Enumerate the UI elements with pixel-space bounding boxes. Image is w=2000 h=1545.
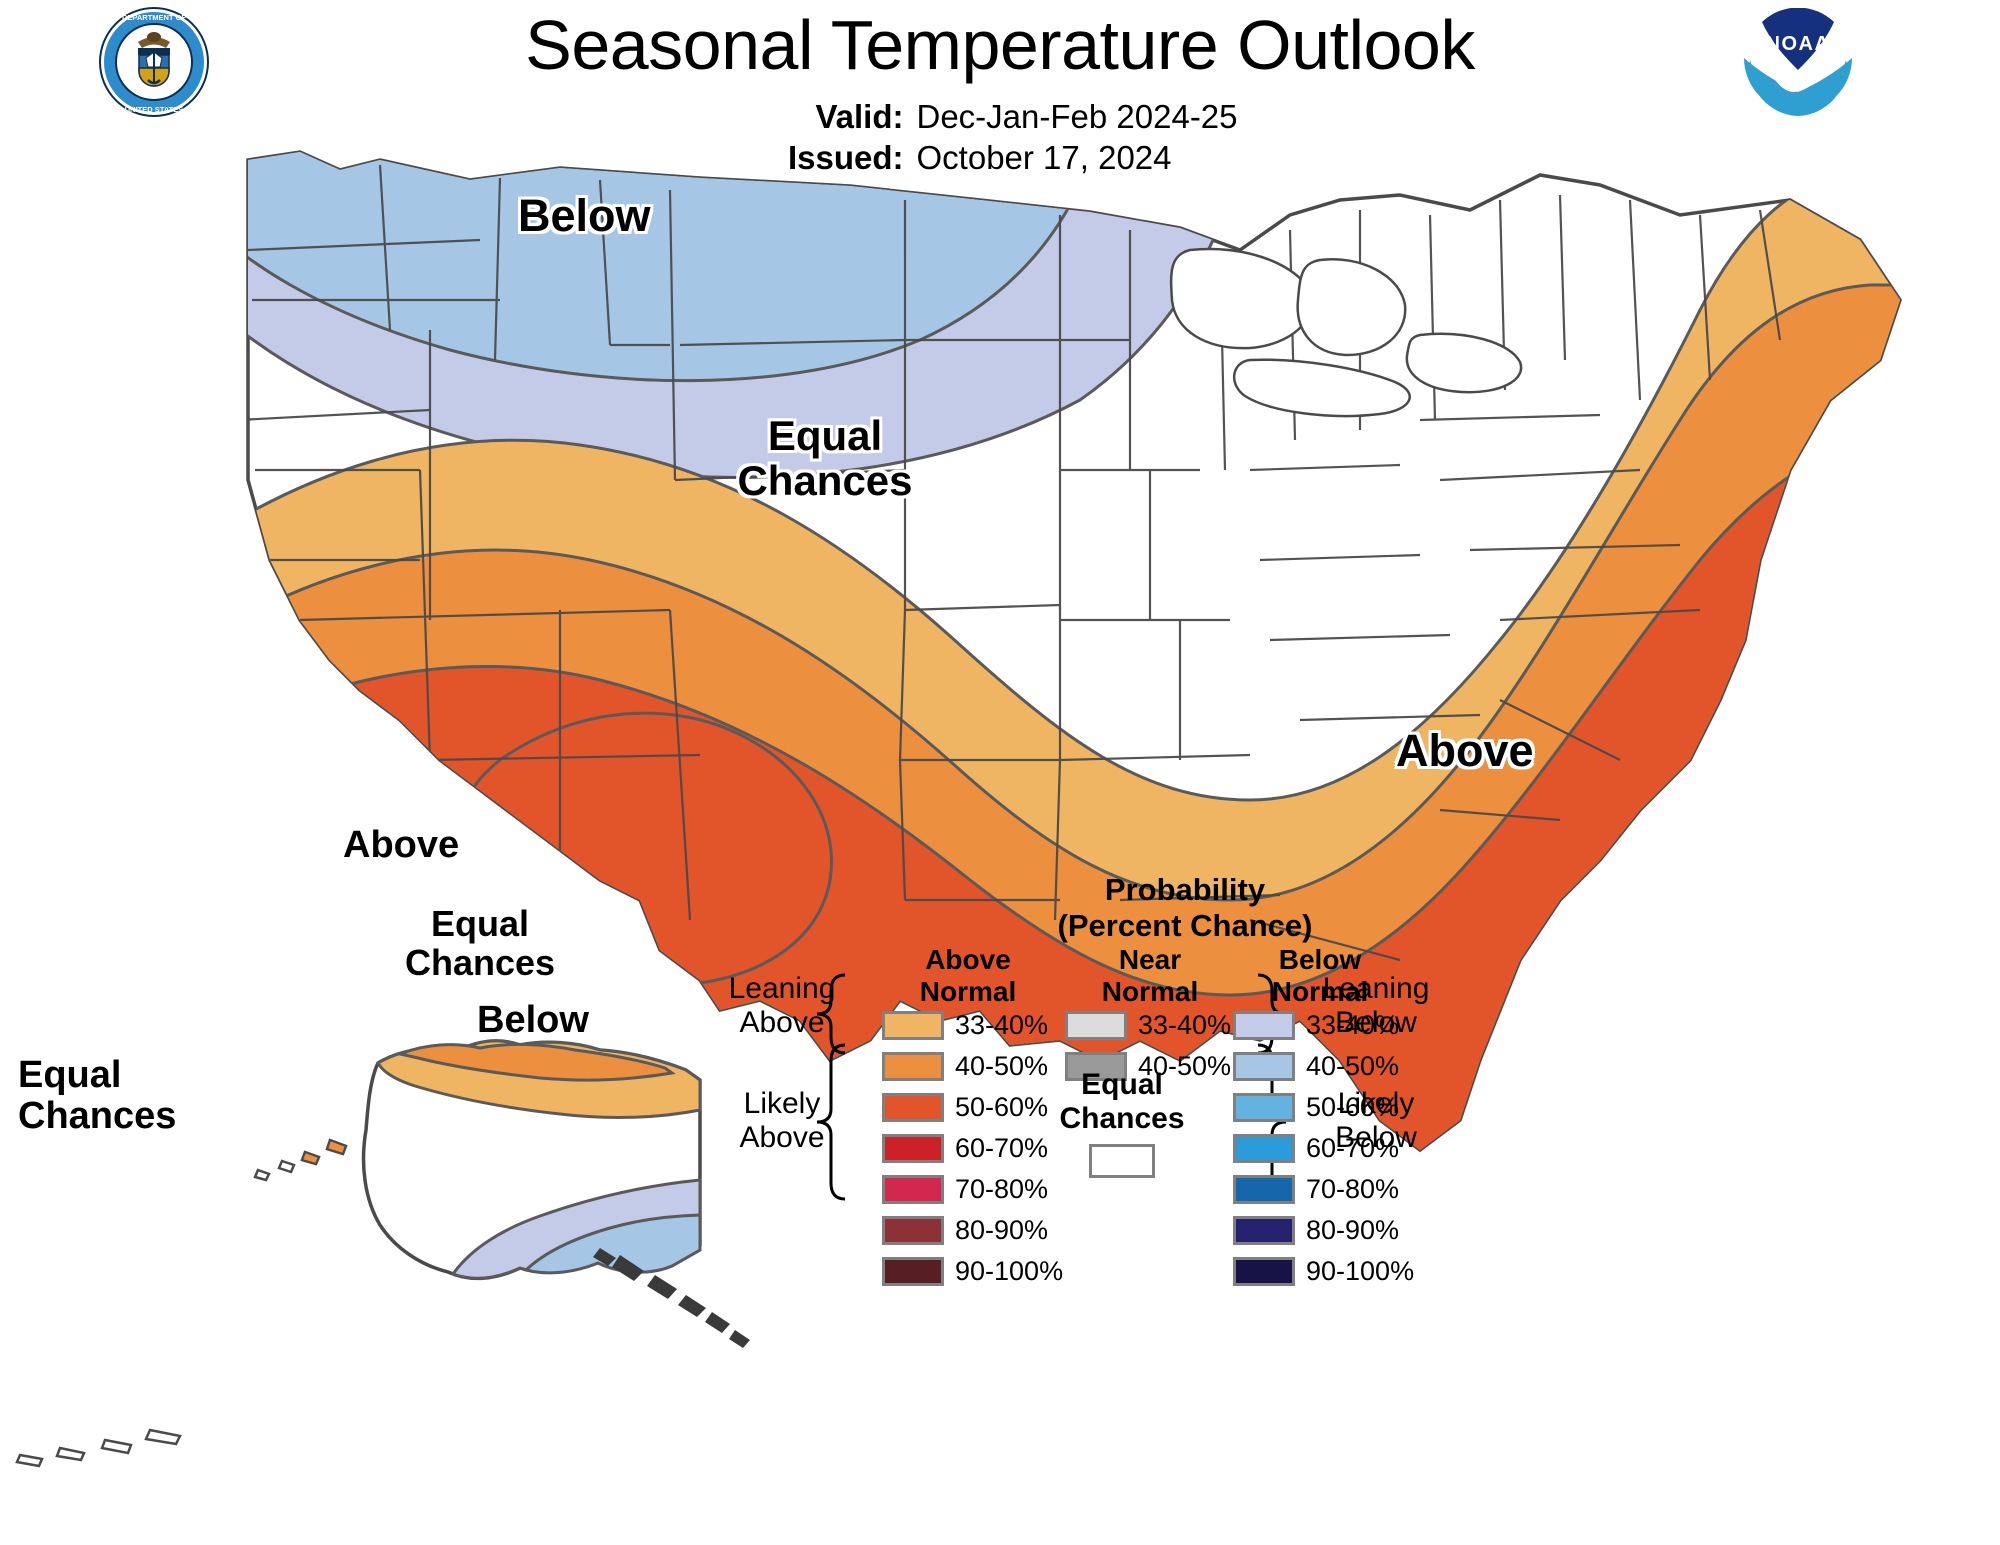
legend-column-head-above: Above Normal [868, 944, 1068, 1008]
legend-below-swatch-1 [1233, 1011, 1295, 1040]
legend-near-range-1: 33-40% [1138, 1010, 1231, 1041]
legend-below-range-2: 40-50% [1306, 1051, 1399, 1082]
legend-above-row-1: 33-40% [882, 1010, 1048, 1039]
legend-below-row-7: 90-100% [1233, 1256, 1414, 1285]
legend-above-range-4: 60-70% [955, 1133, 1048, 1164]
map-label-equal-chances-hawaii: Equal Chances [18, 1055, 176, 1137]
legend-near-row-1: 33-40% [1065, 1010, 1231, 1039]
legend-group-leaning-below: Leaning Below [1296, 972, 1456, 1040]
legend-above-range-1: 33-40% [955, 1010, 1048, 1041]
legend-below-swatch-6 [1233, 1216, 1295, 1245]
legend-below-range-5: 70-80% [1306, 1174, 1399, 1205]
ec-hi-line1: Equal [18, 1054, 121, 1096]
legend-title-line2: (Percent Chance) [975, 908, 1395, 944]
map-label-equal-chances-conus: Equal Chances [720, 413, 930, 504]
leaning-below-line1: Leaning [1296, 972, 1456, 1006]
legend-above-row-3: 50-60% [882, 1092, 1048, 1121]
head-above-line2: Normal [868, 976, 1068, 1008]
map-svg[interactable] [0, 0, 2000, 1545]
likely-below-line1: Likely [1296, 1087, 1456, 1121]
ec-hi-line2: Chances [18, 1095, 176, 1137]
legend-equal-chances-swatch [1089, 1144, 1155, 1178]
legend-above-row-7: 90-100% [882, 1256, 1063, 1285]
legend-below-swatch-4 [1233, 1134, 1295, 1163]
legend-below-swatch-2 [1233, 1052, 1295, 1081]
map-label-equal-chances-alaska: Equal Chances [385, 905, 575, 983]
legend-above-range-5: 70-80% [955, 1174, 1048, 1205]
ec-conus-line2: Chances [737, 457, 912, 504]
legend: Probability (Percent Chance) Above Norma… [720, 872, 1985, 1222]
legend-above-swatch-6 [882, 1216, 944, 1245]
map-label-above-conus: Above [1396, 727, 1534, 776]
legend-group-likely-above: Likely Above [702, 1087, 862, 1155]
likely-above-line2: Above [702, 1121, 862, 1155]
legend-below-swatch-7 [1233, 1257, 1295, 1286]
legend-below-row-6: 80-90% [1233, 1215, 1399, 1244]
legend-group-leaning-above: Leaning Above [702, 972, 862, 1040]
leaning-above-line1: Leaning [702, 972, 862, 1006]
map-label-below-alaska: Below [477, 1000, 589, 1041]
likely-above-line1: Likely [702, 1087, 862, 1121]
ec-ak-line1: Equal [431, 903, 529, 944]
legend-above-swatch-2 [882, 1052, 944, 1081]
legend-ec-line1: Equal [1032, 1068, 1212, 1102]
legend-title: Probability (Percent Chance) [975, 872, 1395, 944]
legend-title-line1: Probability [975, 872, 1395, 908]
likely-below-line2: Below [1296, 1121, 1456, 1155]
legend-near-swatch-1 [1065, 1011, 1127, 1040]
ec-conus-line1: Equal [768, 412, 882, 459]
ec-ak-line2: Chances [405, 942, 555, 983]
leaning-above-line2: Above [702, 1006, 862, 1040]
legend-above-row-2: 40-50% [882, 1051, 1048, 1080]
legend-above-swatch-1 [882, 1011, 944, 1040]
legend-below-range-6: 80-90% [1306, 1215, 1399, 1246]
head-above-line1: Above [868, 944, 1068, 976]
leaning-below-line2: Below [1296, 1006, 1456, 1040]
legend-below-row-2: 40-50% [1233, 1051, 1399, 1080]
map-label-below-conus: Below [518, 192, 651, 241]
legend-below-swatch-5 [1233, 1175, 1295, 1204]
legend-above-swatch-3 [882, 1093, 944, 1122]
outlook-map[interactable] [0, 0, 2000, 1545]
legend-above-swatch-7 [882, 1257, 944, 1286]
legend-above-swatch-4 [882, 1134, 944, 1163]
legend-below-row-5: 70-80% [1233, 1174, 1399, 1203]
legend-below-swatch-3 [1233, 1093, 1295, 1122]
legend-above-swatch-5 [882, 1175, 944, 1204]
legend-equal-chances-label: Equal Chances [1032, 1068, 1212, 1136]
legend-above-row-4: 60-70% [882, 1133, 1048, 1162]
legend-above-row-6: 80-90% [882, 1215, 1048, 1244]
legend-above-range-7: 90-100% [955, 1256, 1063, 1287]
legend-above-range-6: 80-90% [955, 1215, 1048, 1246]
legend-below-range-7: 90-100% [1306, 1256, 1414, 1287]
map-label-above-alaska: Above [343, 825, 459, 866]
legend-ec-line2: Chances [1032, 1102, 1212, 1136]
legend-group-likely-below: Likely Below [1296, 1087, 1456, 1155]
legend-above-row-5: 70-80% [882, 1174, 1048, 1203]
